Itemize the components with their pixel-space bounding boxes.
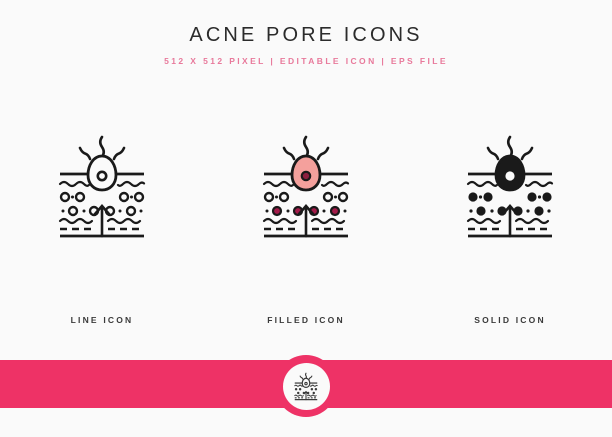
poster-canvas: ACNE PORE ICONS 512 X 512 PIXEL | EDITAB…: [0, 0, 612, 437]
icon-label-row: LINE ICON FILLED ICON SOLID ICON: [0, 310, 612, 328]
acne-pore-skin-layers-filled-icon: [250, 129, 362, 241]
footer-badge[interactable]: [275, 355, 337, 417]
poster-header: ACNE PORE ICONS 512 X 512 PIXEL | EDITAB…: [0, 0, 612, 67]
icon-label-line: LINE ICON: [71, 315, 134, 325]
label-cell-filled: FILLED ICON: [204, 310, 408, 328]
footer-badge-inner: [283, 363, 330, 410]
acne-pore-skin-layers-line-icon: [46, 129, 158, 241]
icon-cell-filled[interactable]: [204, 120, 408, 250]
icon-label-filled: FILLED ICON: [267, 315, 345, 325]
icon-label-solid: SOLID ICON: [474, 315, 546, 325]
icon-cell-solid[interactable]: [408, 120, 612, 250]
acne-pore-skin-layers-solid-icon: [454, 129, 566, 241]
acne-pore-badge-icon: [291, 371, 321, 401]
page-subtitle: 512 X 512 PIXEL | EDITABLE ICON | EPS FI…: [0, 47, 612, 67]
icon-showcase-row: [0, 120, 612, 250]
label-cell-solid: SOLID ICON: [408, 310, 612, 328]
icon-cell-line[interactable]: [0, 120, 204, 250]
page-title: ACNE PORE ICONS: [0, 0, 612, 47]
label-cell-line: LINE ICON: [0, 310, 204, 328]
